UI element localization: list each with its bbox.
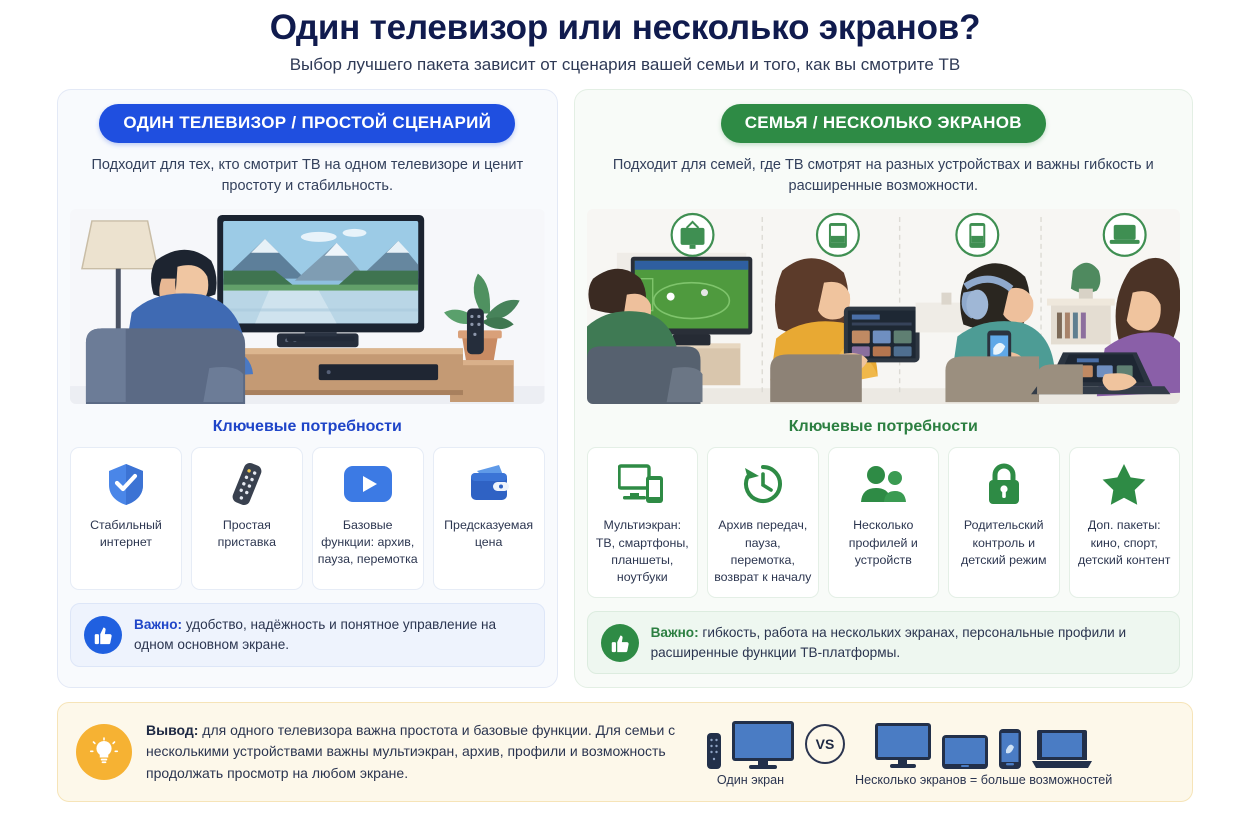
vs-single-group: Один экран: [706, 718, 795, 787]
vs-single-caption: Один экран: [717, 773, 784, 787]
needs-cards-left: Стабильный интернет Простая приставка Ба…: [70, 447, 545, 590]
tv-icon: [874, 722, 932, 770]
laptop-icon: [1031, 728, 1093, 770]
need-card-label: Мультиэкран: ТВ, смартфоны, планшеты, но…: [593, 517, 692, 585]
badge-tv-icon: [671, 214, 713, 256]
important-note-left: Важно: удобство, надёжность и понятное у…: [70, 603, 545, 666]
need-card-label: Предсказуемая цена: [439, 517, 539, 551]
thumbs-up-icon: [601, 624, 639, 662]
conclusion-lead: Вывод:: [146, 722, 198, 738]
tv-icon: [731, 720, 795, 770]
need-card-label: Стабильный интернет: [76, 517, 176, 551]
need-card-stable-internet: Стабильный интернет: [70, 447, 182, 590]
remote-control-icon: [706, 732, 722, 770]
need-card-basic-functions: Базовые функции: архив, пауза, перемотка: [312, 447, 424, 590]
panel-family-badge-wrap: СЕМЬЯ / НЕСКОЛЬКО ЭКРАНОВ: [587, 104, 1180, 143]
need-card-label: Доп. пакеты: кино, спорт, детский контен…: [1075, 517, 1174, 568]
needs-cards-right: Мультиэкран: ТВ, смартфоны, планшеты, но…: [587, 447, 1180, 597]
needs-title-left: Ключевые потребности: [70, 418, 545, 436]
remote-control-icon: [226, 460, 268, 508]
wallet-icon: [467, 460, 511, 508]
need-card-multiscreen: Мультиэкран: ТВ, смартфоны, планшеты, но…: [587, 447, 698, 597]
vs-single-devices: [706, 718, 795, 770]
need-card-label: Архив передач, пауза, перемотка, возврат…: [713, 517, 812, 585]
play-button-icon: [343, 460, 393, 508]
note-lead: Важно:: [651, 625, 699, 640]
need-card-label: Простая приставка: [197, 517, 297, 551]
lock-icon: [985, 460, 1023, 508]
vs-multi-devices: [874, 718, 1093, 770]
badge-laptop-icon: [1103, 214, 1145, 256]
comparison-panels: ОДИН ТЕЛЕВИЗОР / ПРОСТОЙ СЦЕНАРИЙ Подход…: [0, 89, 1250, 688]
tablet-icon: [941, 734, 989, 770]
panel-single-tv-description: Подходит для тех, кто смотрит ТВ на одно…: [70, 155, 545, 197]
need-card-predictable-price: Предсказуемая цена: [433, 447, 545, 590]
page-subtitle: Выбор лучшего пакета зависит от сценария…: [0, 55, 1250, 75]
need-card-label: Несколько профилей и устройств: [834, 517, 933, 568]
vs-multi-group: Несколько экранов = больше возможностей: [855, 718, 1112, 787]
important-note-text-left: Важно: удобство, надёжность и понятное у…: [134, 615, 531, 654]
conclusion-text: Вывод: для одного телевизора важна прост…: [146, 720, 686, 785]
need-card-profiles: Несколько профилей и устройств: [828, 447, 939, 597]
scene-tv-football: [587, 253, 752, 404]
tv-remote: [467, 309, 484, 355]
important-note-right: Важно: гибкость, работа на нескольких эк…: [587, 611, 1180, 674]
note-body: удобство, надёжность и понятное управлен…: [134, 617, 496, 652]
vs-multi-caption: Несколько экранов = больше возможностей: [855, 773, 1112, 787]
note-body: гибкость, работа на нескольких экранах, …: [651, 625, 1127, 660]
vs-badge: VS: [805, 724, 845, 764]
badge-smartphone-icon: [956, 214, 998, 256]
header: Один телевизор или несколько экранов? Вы…: [0, 0, 1250, 75]
note-lead: Важно:: [134, 617, 182, 632]
needs-title-right: Ключевые потребности: [587, 418, 1180, 436]
conclusion-bar: Вывод: для одного телевизора важна прост…: [57, 702, 1193, 802]
illustration-living-room: [70, 209, 545, 404]
panel-single-tv-badge: ОДИН ТЕЛЕВИЗОР / ПРОСТОЙ СЦЕНАРИЙ: [99, 104, 515, 143]
need-card-archive: Архив передач, пауза, перемотка, возврат…: [707, 447, 818, 597]
need-card-simple-set-top-box: Простая приставка: [191, 447, 303, 590]
vs-comparison: Один экран VS Несколько экранов = больше…: [706, 718, 1112, 787]
badge-tablet-icon: [817, 214, 859, 256]
panel-single-tv: ОДИН ТЕЛЕВИЗОР / ПРОСТОЙ СЦЕНАРИЙ Подход…: [57, 89, 558, 688]
thumbs-up-icon: [84, 616, 122, 654]
lightbulb-icon: [76, 724, 132, 780]
need-card-label: Родительский контроль и детский режим: [954, 517, 1053, 568]
need-card-label: Базовые функции: архив, пауза, перемотка: [318, 517, 418, 568]
conclusion-body: для одного телевизора важна простота и б…: [146, 722, 675, 781]
panel-single-tv-badge-wrap: ОДИН ТЕЛЕВИЗОР / ПРОСТОЙ СЦЕНАРИЙ: [70, 104, 545, 143]
shield-check-icon: [106, 460, 146, 508]
panel-family-description: Подходит для семей, где ТВ смотрят на ра…: [587, 155, 1180, 197]
panel-family-multiscreen: СЕМЬЯ / НЕСКОЛЬКО ЭКРАНОВ Подходит для с…: [574, 89, 1193, 688]
panel-family-badge: СЕМЬЯ / НЕСКОЛЬКО ЭКРАНОВ: [721, 104, 1046, 143]
need-card-extra-packages: Доп. пакеты: кино, спорт, детский контен…: [1069, 447, 1180, 597]
multiscreen-icon: [618, 460, 666, 508]
page-title: Один телевизор или несколько экранов?: [0, 8, 1250, 48]
clock-rewind-icon: [741, 460, 785, 508]
need-card-parental-control: Родительский контроль и детский режим: [948, 447, 1059, 597]
users-icon: [859, 460, 907, 508]
illustration-family-screens: [587, 209, 1180, 404]
infographic-page: Один телевизор или несколько экранов? Вы…: [0, 0, 1250, 833]
important-note-text-right: Важно: гибкость, работа на нескольких эк…: [651, 623, 1166, 662]
star-icon: [1101, 460, 1147, 508]
smartphone-icon: [998, 728, 1022, 770]
